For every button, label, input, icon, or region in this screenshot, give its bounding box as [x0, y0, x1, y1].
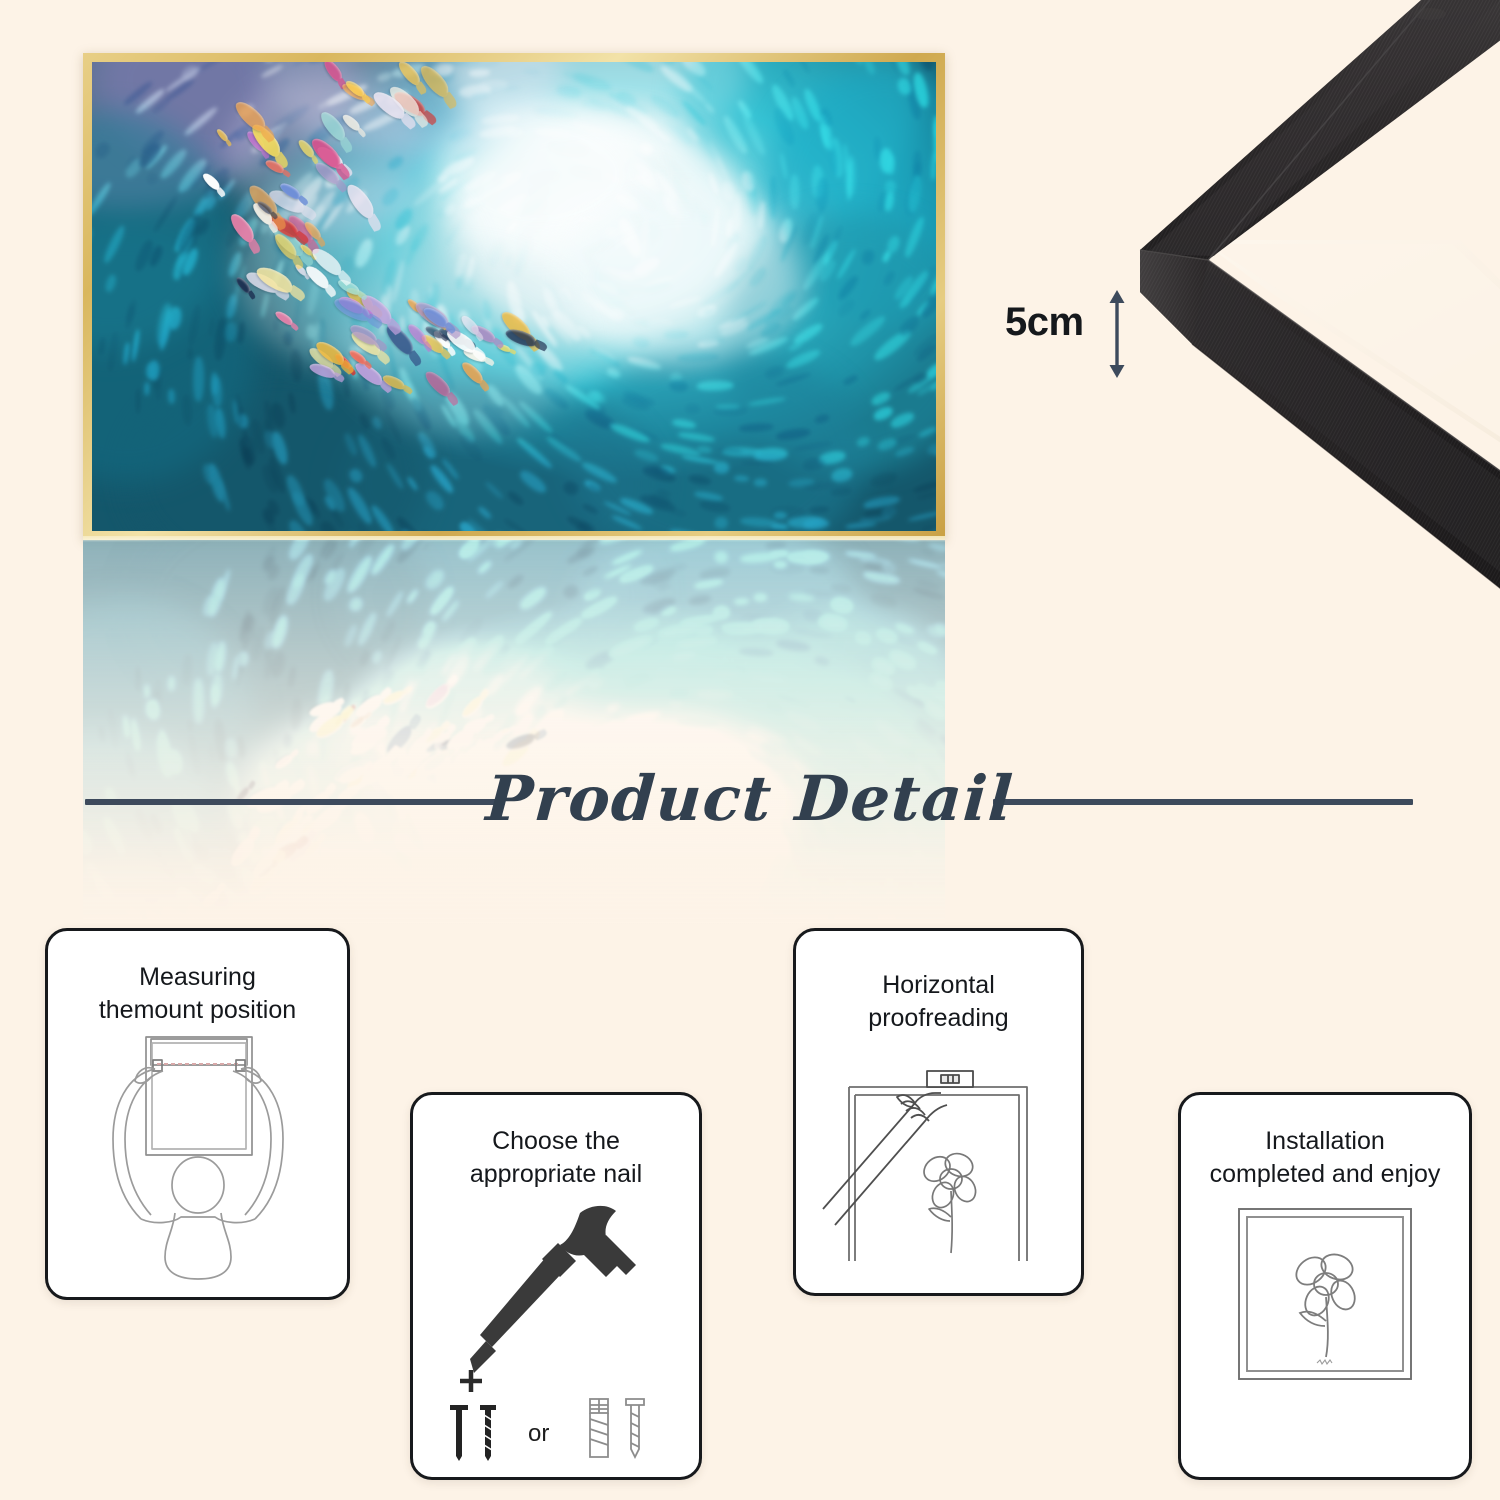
fish-stroke [395, 62, 422, 89]
framed-flower-artwork-icon [1181, 1199, 1469, 1415]
step-title-line-2: proofreading [808, 1002, 1069, 1035]
fish-stroke [201, 171, 222, 192]
double-arrow-vertical-icon [1104, 288, 1130, 385]
step-card-installation-complete[interactable]: Installation completed and enjoy [1178, 1092, 1472, 1480]
painting-canvas [92, 62, 936, 531]
dimension-label: 5cm [1005, 300, 1084, 345]
fish-stroke [460, 359, 486, 387]
section-banner: Product Detail [0, 762, 1500, 848]
step-card-title: Choose the appropriate nail [413, 1095, 699, 1191]
fish-stroke [216, 128, 230, 143]
fish-stroke [322, 62, 345, 84]
or-label: or [528, 1420, 549, 1447]
hand-with-spirit-level-on-frame-icon [796, 1049, 1081, 1265]
fish-stroke [227, 210, 257, 246]
fish-school-layer [92, 62, 936, 531]
step-card-horizontal-proofreading[interactable]: Horizontal proofreading [793, 928, 1084, 1296]
fish-stroke [317, 108, 349, 144]
reflection-fade-overlay [83, 540, 945, 925]
step-title-line-2: appropriate nail [425, 1158, 687, 1191]
black-frame-corner-sample [1130, 0, 1500, 612]
step-title-line-1: Horizontal [808, 969, 1069, 1002]
step-card-title: Horizontal proofreading [796, 931, 1081, 1035]
fish-stroke [417, 62, 453, 100]
step-title-line-1: Installation [1193, 1125, 1457, 1158]
step-card-choose-nail[interactable]: Choose the appropriate nail [410, 1092, 702, 1480]
hero-framed-artwork [83, 53, 945, 540]
step-card-title: Measuring themount position [48, 931, 347, 1027]
step-card-title: Installation completed and enjoy [1181, 1095, 1469, 1191]
step-title-line-1: Measuring [60, 961, 335, 994]
page-title: Product Detail [0, 762, 1500, 835]
gold-frame [83, 53, 945, 540]
step-title-line-2: completed and enjoy [1193, 1158, 1457, 1191]
fish-stroke [232, 96, 269, 134]
step-title-line-2: themount position [60, 994, 335, 1027]
fish-stroke [273, 308, 294, 327]
hammer-nails-anchor-icon: or [413, 1199, 699, 1461]
artwork-reflection [83, 540, 945, 925]
step-card-measuring[interactable]: Measuring themount position [45, 928, 350, 1300]
fish-stroke [343, 181, 378, 223]
fish-stroke [422, 367, 453, 400]
person-holding-frame-with-ruler-icon [48, 1035, 347, 1283]
step-title-line-1: Choose the [425, 1125, 687, 1158]
